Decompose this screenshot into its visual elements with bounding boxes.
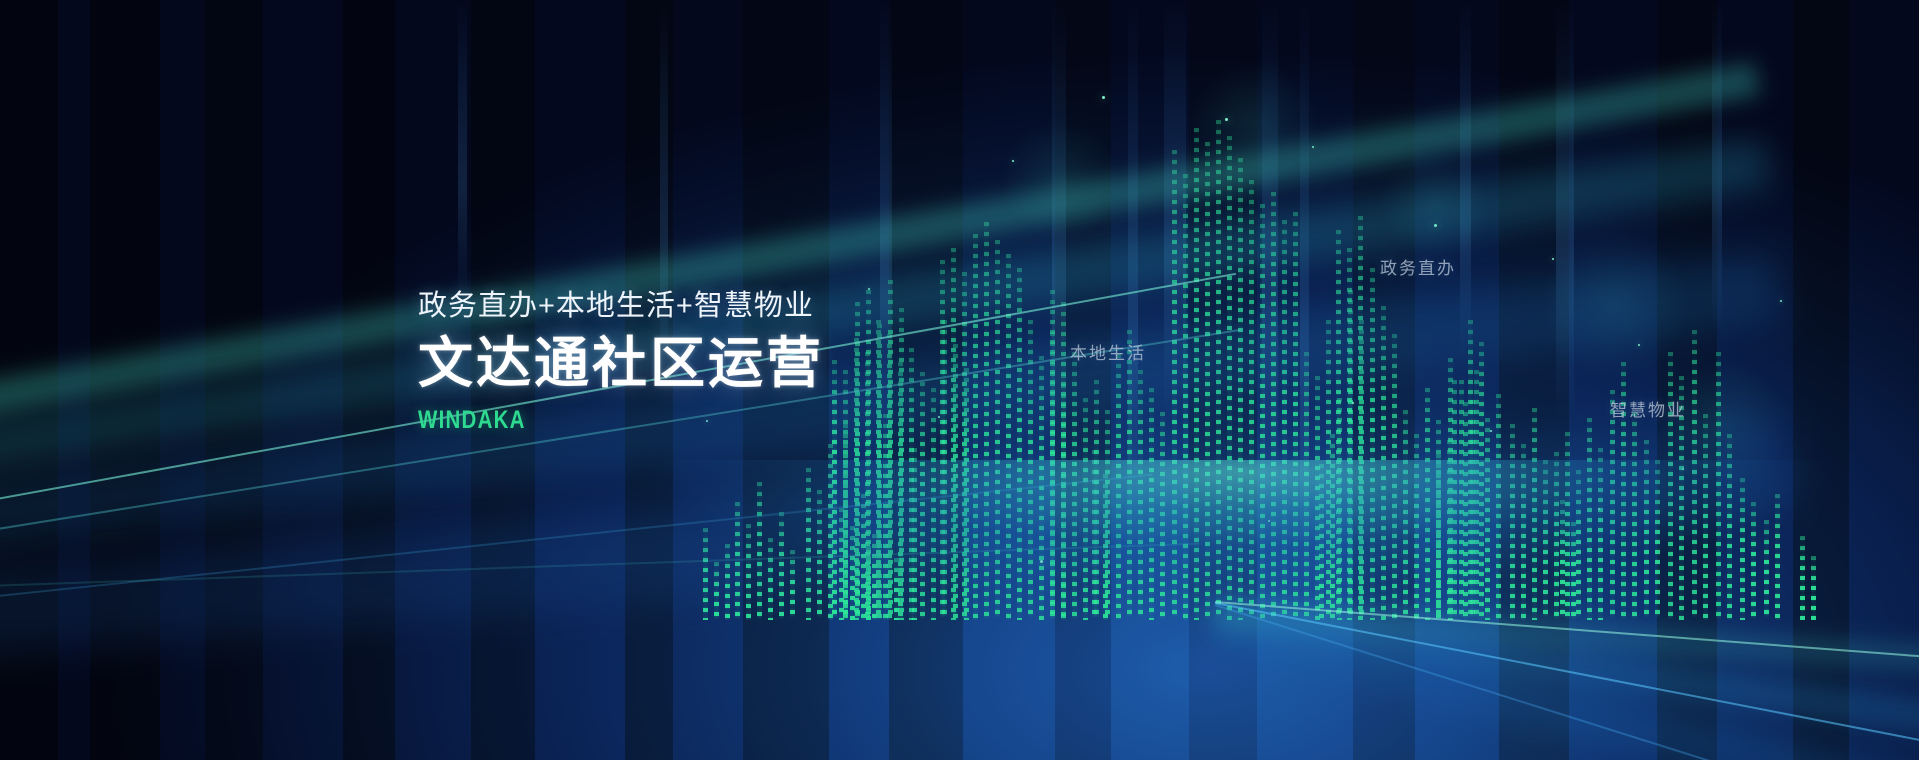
perspective-ground (0, 0, 1919, 760)
perspective-lines (0, 460, 1919, 760)
hero-banner: 政务直办本地生活智慧物业 政务直办+本地生活+智慧物业 文达通社区运营 WIND… (0, 0, 1919, 760)
zone-label-1: 政务直办 (1380, 254, 1456, 279)
zone-label-3: 智慧物业 (1610, 396, 1686, 421)
hero-text-block: 政务直办+本地生活+智慧物业 文达通社区运营 WINDAKA (418, 288, 824, 435)
brand-wordmark: WINDAKA (418, 406, 751, 435)
hero-title: 文达通社区运营 (418, 330, 824, 396)
zone-label-2: 本地生活 (1070, 339, 1146, 364)
hero-subtitle: 政务直办+本地生活+智慧物业 (418, 288, 824, 324)
